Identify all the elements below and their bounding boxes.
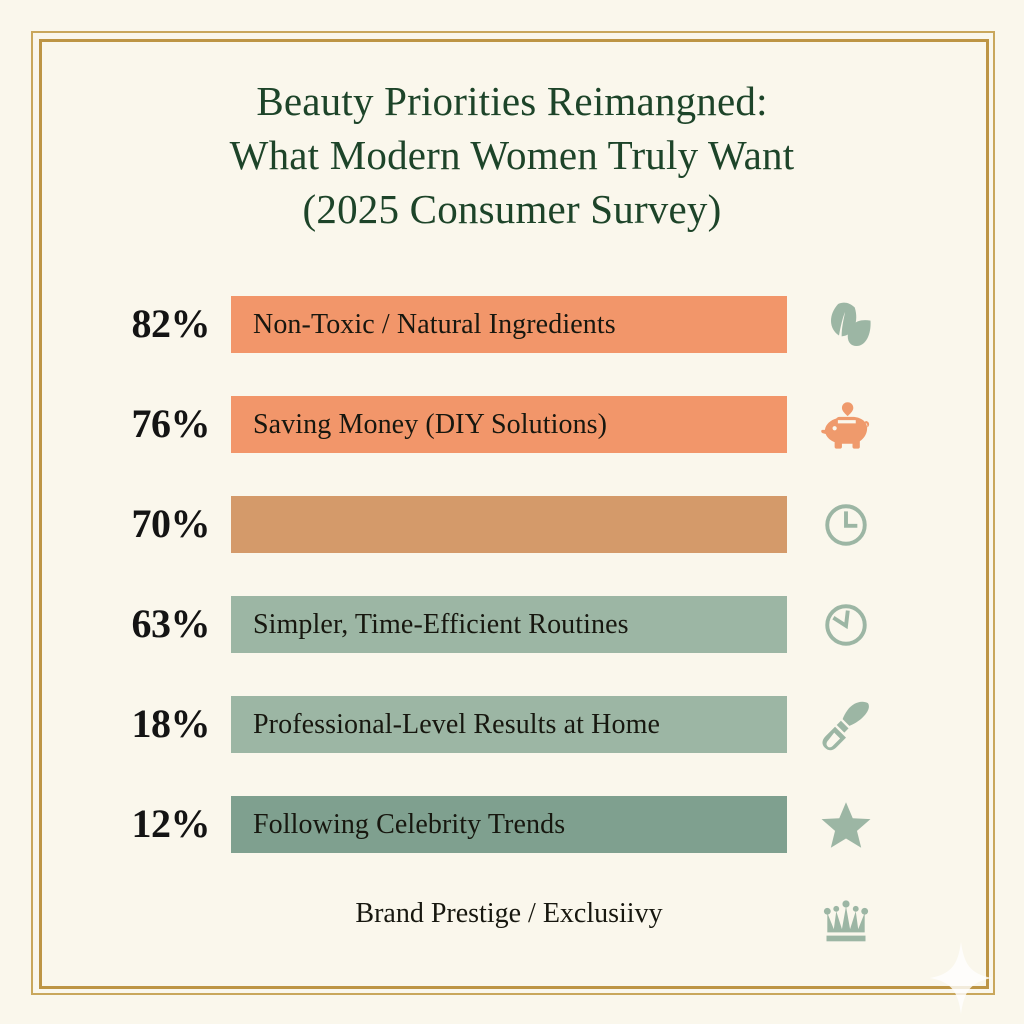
bar-track: Following Celebrity Trends	[231, 796, 787, 853]
star-icon	[812, 792, 880, 858]
bar-row: 82% Non-Toxic / Natural Ingredients	[0, 292, 1024, 392]
leaf-icon	[812, 292, 880, 358]
title-line-1: Beauty Priorities Reimangned:	[0, 74, 1024, 128]
priority-bar-list: 82% Non-Toxic / Natural Ingredients 76% …	[0, 292, 1024, 984]
bar-label: Saving Money (DIY Solutions)	[231, 409, 607, 441]
clock-icon	[812, 592, 880, 658]
bar-row-no-bar: Brand Prestige / Exclusiivy	[0, 892, 1024, 984]
bar-label: Professional-Level Results at Home	[231, 709, 660, 741]
title-line-2: What Modern Women Truly Want	[0, 128, 1024, 182]
bar-track: Non-Toxic / Natural Ingredients	[231, 296, 787, 353]
bar-label: Brand Prestige / Exclusiivy	[231, 898, 787, 930]
percent-label: 18%	[80, 700, 210, 747]
bar-label: Following Celebrity Trends	[231, 809, 565, 841]
bar-label: Non-Toxic / Natural Ingredients	[231, 309, 616, 341]
bar-label: Simpler, Time-Efficient Routines	[231, 609, 629, 641]
bar-track: Professional-Level Results at Home	[231, 696, 787, 753]
bar-track: Simpler, Time-Efficient Routines	[231, 596, 787, 653]
percent-label: 12%	[80, 800, 210, 847]
bar-row: 76% Saving Money (DIY Solutions)	[0, 392, 1024, 492]
bar-track: Saving Money (DIY Solutions)	[231, 396, 787, 453]
bar-row: 12% Following Celebrity Trends	[0, 792, 1024, 892]
bar-track	[231, 496, 787, 553]
bar-row: 63% Simpler, Time-Efficient Routines	[0, 592, 1024, 692]
percent-label: 82%	[80, 300, 210, 347]
makeup-brush-icon	[812, 692, 880, 758]
crown-icon	[812, 888, 880, 954]
percent-label: 70%	[80, 500, 210, 547]
bar-row: 18% Professional-Level Results at Home	[0, 692, 1024, 792]
clock-icon	[812, 492, 880, 558]
percent-label: 63%	[80, 600, 210, 647]
title-line-3: (2025 Consumer Survey)	[0, 182, 1024, 236]
infographic-canvas: Beauty Priorities Reimangned: What Moder…	[0, 0, 1024, 1024]
page-title: Beauty Priorities Reimangned: What Moder…	[0, 74, 1024, 236]
bar-row: 70%	[0, 492, 1024, 592]
piggy-bank-icon	[812, 392, 880, 458]
percent-label: 76%	[80, 400, 210, 447]
